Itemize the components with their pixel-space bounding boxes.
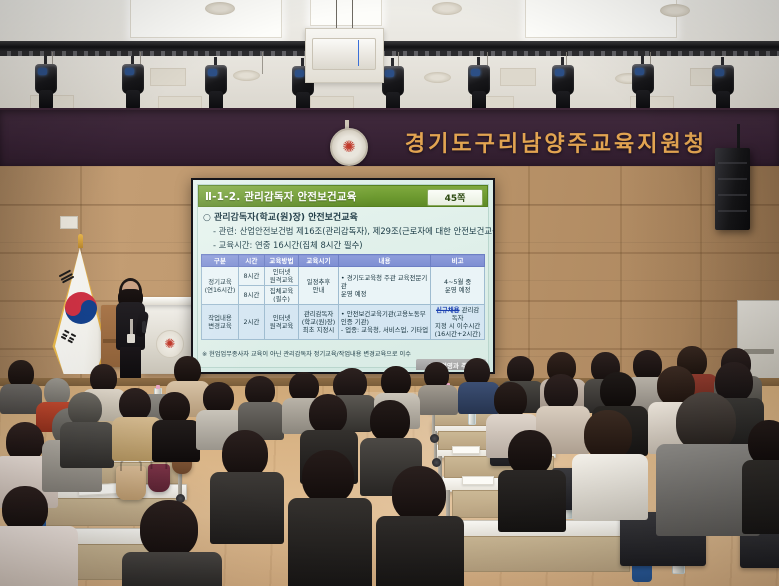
taeguk-symbol-icon — [65, 292, 97, 324]
person-head — [309, 394, 347, 434]
cell-timing: 일정추후 안내 — [299, 267, 339, 305]
cell-time-b: 8시간 — [239, 286, 265, 305]
slide-bullet-1: - 관련: 산업안전보건법 제16조(관리감독자), 제29조(근로자에 대한 … — [213, 225, 493, 237]
cell-gubun: 정기교육 (연16시간) — [202, 267, 239, 305]
skylight-panel — [310, 0, 382, 26]
stage-light — [205, 57, 227, 113]
cell-remark-2: 신규채용 관리감독자 지정 시 이수시간 (16시간+2시간) — [431, 305, 485, 340]
person-head — [222, 430, 268, 478]
person-head — [370, 400, 410, 442]
lighting-truss — [0, 41, 779, 51]
cell-content-2: • 안전보건교육기관(고용노동부 인증 기관) - 업종: 교육청, 서비스업,… — [338, 305, 430, 340]
venue-banner: 경기도구리남양주교육지원청 — [0, 110, 779, 171]
table-header-gubun: 구분 — [202, 255, 239, 267]
slide-title: Ⅱ-1-2. 관리감독자 안전보건교육 — [205, 189, 357, 204]
person-body — [60, 422, 114, 468]
table-header-time: 시간 — [239, 255, 265, 267]
table-header-row: 구분 시간 교육방법 교육시기 내용 비고 — [202, 255, 485, 267]
audience-member — [498, 430, 562, 526]
wood-seam-vertical — [528, 166, 530, 386]
audience-member — [152, 392, 198, 456]
handbag — [116, 466, 146, 500]
person-body — [210, 472, 284, 544]
ceiling-downlight — [432, 2, 462, 15]
slide-title-bar: Ⅱ-1-2. 관리감독자 안전보건교육 45쪽 — [198, 185, 488, 207]
audience-member — [660, 392, 752, 528]
auditorium-scene: 경기도구리남양주교육지원청 ✺ ✺ — [0, 0, 779, 586]
presenter-badge — [127, 334, 135, 343]
stage-light — [35, 56, 57, 112]
slide-note: ※ 현업업무종사자 교육이 아닌 관리감독자 정기교육/작업내용 변경교육으로 … — [202, 349, 411, 358]
truss-clamps — [0, 51, 779, 56]
projector-cable — [352, 0, 353, 30]
audience-member — [122, 500, 218, 586]
person-head — [68, 392, 102, 426]
stage-light — [122, 56, 144, 112]
venue-banner-text: 경기도구리남양주교육지원청 — [405, 126, 707, 158]
person-head — [302, 450, 354, 504]
person-body — [376, 516, 464, 586]
person-head — [600, 372, 636, 410]
audience-member — [210, 430, 280, 540]
audience-member — [0, 486, 76, 586]
ceiling-access-panel — [500, 68, 536, 86]
slide-bullet-2: - 교육시간: 연중 16시간(집체 8시간 필수) — [213, 239, 363, 251]
person-body — [122, 552, 222, 586]
cell-content: • 경기도교육청 주관 교육전문기관 운영 예정 — [338, 267, 430, 305]
handout-paper — [462, 476, 494, 485]
ceiling-access-panel — [150, 68, 186, 86]
presentation-slide: Ⅱ-1-2. 관리감독자 안전보건교육 45쪽 ○ 관리감독자(학교(원)장) … — [193, 180, 493, 372]
table-row: 정기교육 (연16시간) 8시간 인터넷 원격교육 일정추후 안내 • 경기도교… — [202, 267, 485, 286]
audience-member — [60, 392, 112, 462]
audience-member — [418, 362, 456, 410]
stage-light — [712, 57, 734, 113]
speaker-mount-rod — [737, 124, 740, 150]
cell-time-a: 8시간 — [239, 267, 265, 286]
table-header-method: 교육방법 — [264, 255, 298, 267]
wall-sign — [60, 216, 78, 229]
person-body — [152, 420, 200, 462]
microphone-icon — [142, 321, 146, 333]
stage-light — [552, 57, 574, 113]
table-header-remark: 비고 — [431, 255, 485, 267]
remark-strikethrough: 신규채용 — [436, 306, 460, 314]
audience-member — [376, 466, 460, 586]
institution-emblem-icon: ✺ — [330, 128, 368, 166]
person-body — [498, 470, 566, 532]
slide-bullet-0: ○ 관리감독자(학교(원)장) 안전보건교육 — [203, 210, 358, 223]
projection-screen: Ⅱ-1-2. 관리감독자 안전보건교육 45쪽 ○ 관리감독자(학교(원)장) … — [191, 178, 495, 374]
line-array-speaker — [715, 148, 750, 230]
table-row: 작업내용 변경교육 2시간 인터넷 원격교육 관리감독자 (학교(원)장) 최초… — [202, 305, 485, 340]
ceiling-downlight — [660, 4, 690, 17]
ceiling-downlight — [205, 2, 235, 15]
stage-light — [632, 56, 654, 112]
desk-caster — [430, 434, 439, 443]
audience-member — [572, 410, 644, 514]
person-head — [140, 500, 198, 558]
desk-front-panel — [462, 536, 630, 572]
person-body — [288, 498, 372, 586]
person-head — [494, 382, 527, 418]
slide-page-badge: 45쪽 — [427, 189, 483, 206]
presenter-lanyard — [130, 319, 133, 335]
person-head — [676, 392, 736, 452]
cell-time-2: 2시간 — [239, 305, 265, 340]
cell-gubun-2: 작업내용 변경교육 — [202, 305, 239, 340]
projector-cable-blue — [358, 40, 359, 66]
handbag — [148, 464, 170, 492]
podium-emblem-icon: ✺ — [156, 330, 184, 358]
ceiling — [0, 0, 779, 118]
table-header-content: 내용 — [338, 255, 430, 267]
person-head — [544, 374, 578, 410]
cell-method-2: 인터넷 원격교육 — [264, 305, 298, 340]
projector — [312, 38, 376, 70]
cell-remark: 4~5월 중 운영 예정 — [431, 267, 485, 305]
flag-finial — [78, 234, 83, 248]
person-head — [584, 410, 632, 460]
projector-cable — [336, 0, 337, 30]
person-head — [392, 466, 446, 522]
handout-paper — [452, 446, 480, 454]
light-cable — [262, 52, 263, 74]
ceiling-downlight — [424, 72, 451, 83]
cell-timing-2: 관리감독자 (학교(원)장) 최초 지정시 — [299, 305, 339, 340]
audience-member — [744, 420, 779, 530]
cell-method-a: 인터넷 원격교육 — [264, 267, 298, 286]
audience-member — [238, 376, 282, 434]
ceiling-downlight — [233, 70, 260, 81]
table-header-timing: 교육시기 — [299, 255, 339, 267]
cell-method-b: 집체교육 (필수) — [264, 286, 298, 305]
stage-light — [382, 58, 404, 114]
stage-light — [468, 57, 490, 113]
person-body — [742, 460, 779, 534]
person-body — [0, 526, 78, 586]
slide-table: 구분 시간 교육방법 교육시기 내용 비고 정기교육 (연16시간) 8시간 인… — [201, 254, 485, 340]
audience-member — [288, 450, 368, 586]
audience-member — [0, 360, 40, 410]
person-body — [572, 454, 648, 520]
skylight-panel — [525, 0, 677, 38]
emblem-figure-icon: ✺ — [342, 139, 355, 155]
person-body — [418, 385, 458, 415]
